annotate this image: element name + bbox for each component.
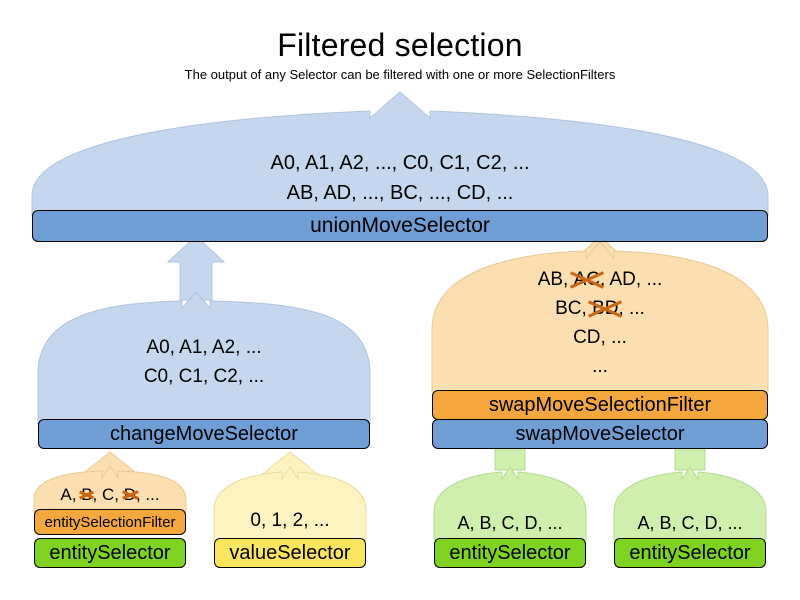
change-move-selector-bar[interactable]: changeMoveSelector [38,419,370,449]
output-line-3: CD, ... [432,323,768,352]
output-line: A0, A1, A2, ... [38,333,370,362]
arrow-change-to-union [168,236,224,300]
struck-item: D [124,483,136,507]
output-part-2: , C, [93,485,124,504]
entity-selector-label: entitySelector [629,542,750,565]
output-line: AB, AD, ..., BC, ..., CD, ... [32,178,768,208]
entity-selector-swap-right-bar[interactable]: entitySelector [614,538,766,568]
output-line: A, B, C, D, ... [434,510,586,536]
entity-selector-swap-right-output: A, B, C, D, ... [614,510,766,536]
output-line: A, B, C, D, ... [34,483,186,507]
output-line-4: ... [432,352,768,381]
entity-selector-swap-left-bar[interactable]: entitySelector [434,538,586,568]
union-move-selector-label: unionMoveSelector [310,214,490,238]
output-line: A, B, C, D, ... [614,510,766,536]
value-selector-output: 0, 1, 2, ... [214,508,366,534]
struck-item: BD [592,294,618,323]
entity-selector-filtered-output: A, B, C, D, ... [34,483,186,507]
page-subtitle: The output of any Selector can be filter… [0,67,800,83]
union-move-selector-output: A0, A1, A2, ..., C0, C1, C2, ... AB, AD,… [32,148,768,208]
page-title: Filtered selection [0,26,800,64]
value-selector-bar[interactable]: valueSelector [214,538,366,568]
swap-move-selector-output: AB, AC, AD, ... BC, BD, ... CD, ... ... [432,265,768,381]
union-move-selector-bar[interactable]: unionMoveSelector [32,210,768,242]
change-move-selector-label: changeMoveSelector [110,423,298,446]
output-line: A0, A1, A2, ..., C0, C1, C2, ... [32,148,768,178]
output-suffix: , AD, ... [600,269,662,290]
output-line: 0, 1, 2, ... [214,508,366,534]
value-selector-label: valueSelector [229,542,350,565]
entity-selector-label: entitySelector [49,542,170,565]
output-part-1: A, [60,485,81,504]
swap-move-selector-label: swapMoveSelector [516,423,685,446]
entity-selector-swap-left-output: A, B, C, D, ... [434,510,586,536]
entity-selection-filter-label: entitySelectionFilter [45,514,176,531]
output-line-1: AB, AC, AD, ... [432,265,768,294]
entity-selector-label: entitySelector [449,542,570,565]
entity-selection-filter-bar[interactable]: entitySelectionFilter [34,509,186,535]
output-suffix: , ... [618,298,644,319]
output-part-3: , ... [136,485,160,504]
struck-item: B [81,483,92,507]
swap-move-selection-filter-bar[interactable]: swapMoveSelectionFilter [432,390,768,420]
struck-item: AC [574,265,600,294]
swap-move-selection-filter-label: swapMoveSelectionFilter [489,394,711,417]
output-prefix: AB, [538,269,574,290]
entity-selector-filtered-bar[interactable]: entitySelector [34,538,186,568]
output-line-2: BC, BD, ... [432,294,768,323]
swap-move-selector-bar[interactable]: swapMoveSelector [432,419,768,449]
output-line: C0, C1, C2, ... [38,362,370,391]
output-prefix: BC, [555,298,592,319]
